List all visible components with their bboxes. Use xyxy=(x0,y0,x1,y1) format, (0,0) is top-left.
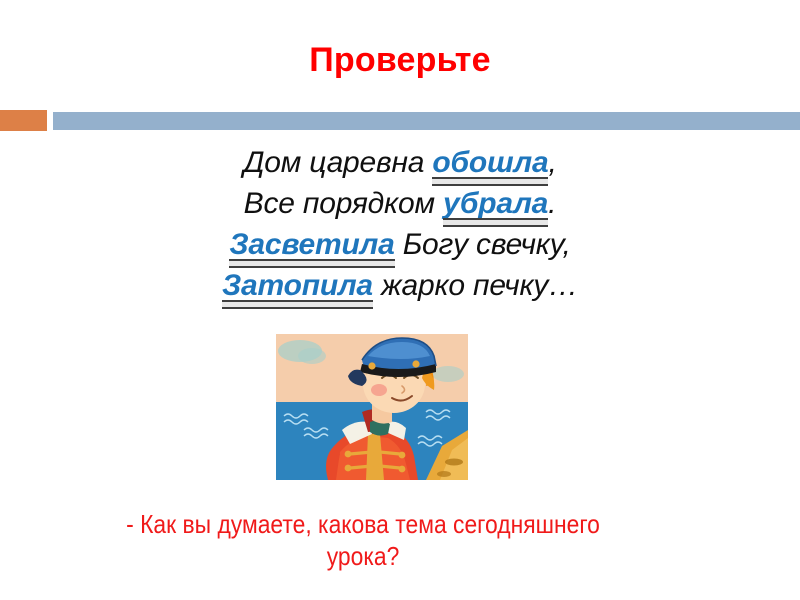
divider-blue-bar xyxy=(53,112,800,130)
poem-line-4-highlight: Затопила xyxy=(222,269,373,303)
poem-line-1-pre: Дом царевна xyxy=(243,146,432,179)
poem-line-2-post: . xyxy=(548,187,556,220)
question-block: - Как вы думаете, какова тема сегодняшне… xyxy=(59,508,666,572)
poem-line-2-highlight: убрала xyxy=(443,187,548,221)
decorative-divider xyxy=(0,109,800,133)
poem-line-3-highlight: Засветила xyxy=(229,228,394,262)
page-title: Проверьте xyxy=(0,38,800,82)
poem-line: Дом царевна обошла, xyxy=(0,142,800,183)
poem-line: Затопила жарко печку… xyxy=(0,265,800,306)
slide-canvas: Проверьте Дом царевна обошла, Все порядк… xyxy=(0,0,800,600)
poem-line-3-post: Богу свечку, xyxy=(395,228,571,261)
poem-line-4-post: жарко печку… xyxy=(373,269,578,302)
poem-line-1-post: , xyxy=(548,146,556,179)
poem-line: Все порядком убрала. xyxy=(0,183,800,224)
illustration-cartoon-boy xyxy=(276,334,468,480)
poem-block: Дом царевна обошла, Все порядком убрала.… xyxy=(0,142,800,306)
cartoon-boy-in-cap-at-seaside-image xyxy=(276,334,468,480)
poem-line-2-pre: Все порядком xyxy=(244,187,443,220)
poem-line: Засветила Богу свечку, xyxy=(0,224,800,265)
question-line-1: - Как вы думаете, какова тема сегодняшне… xyxy=(59,508,666,540)
question-line-2: урока? xyxy=(59,540,666,572)
poem-line-1-highlight: обошла xyxy=(432,146,548,180)
divider-orange-square xyxy=(0,110,47,131)
